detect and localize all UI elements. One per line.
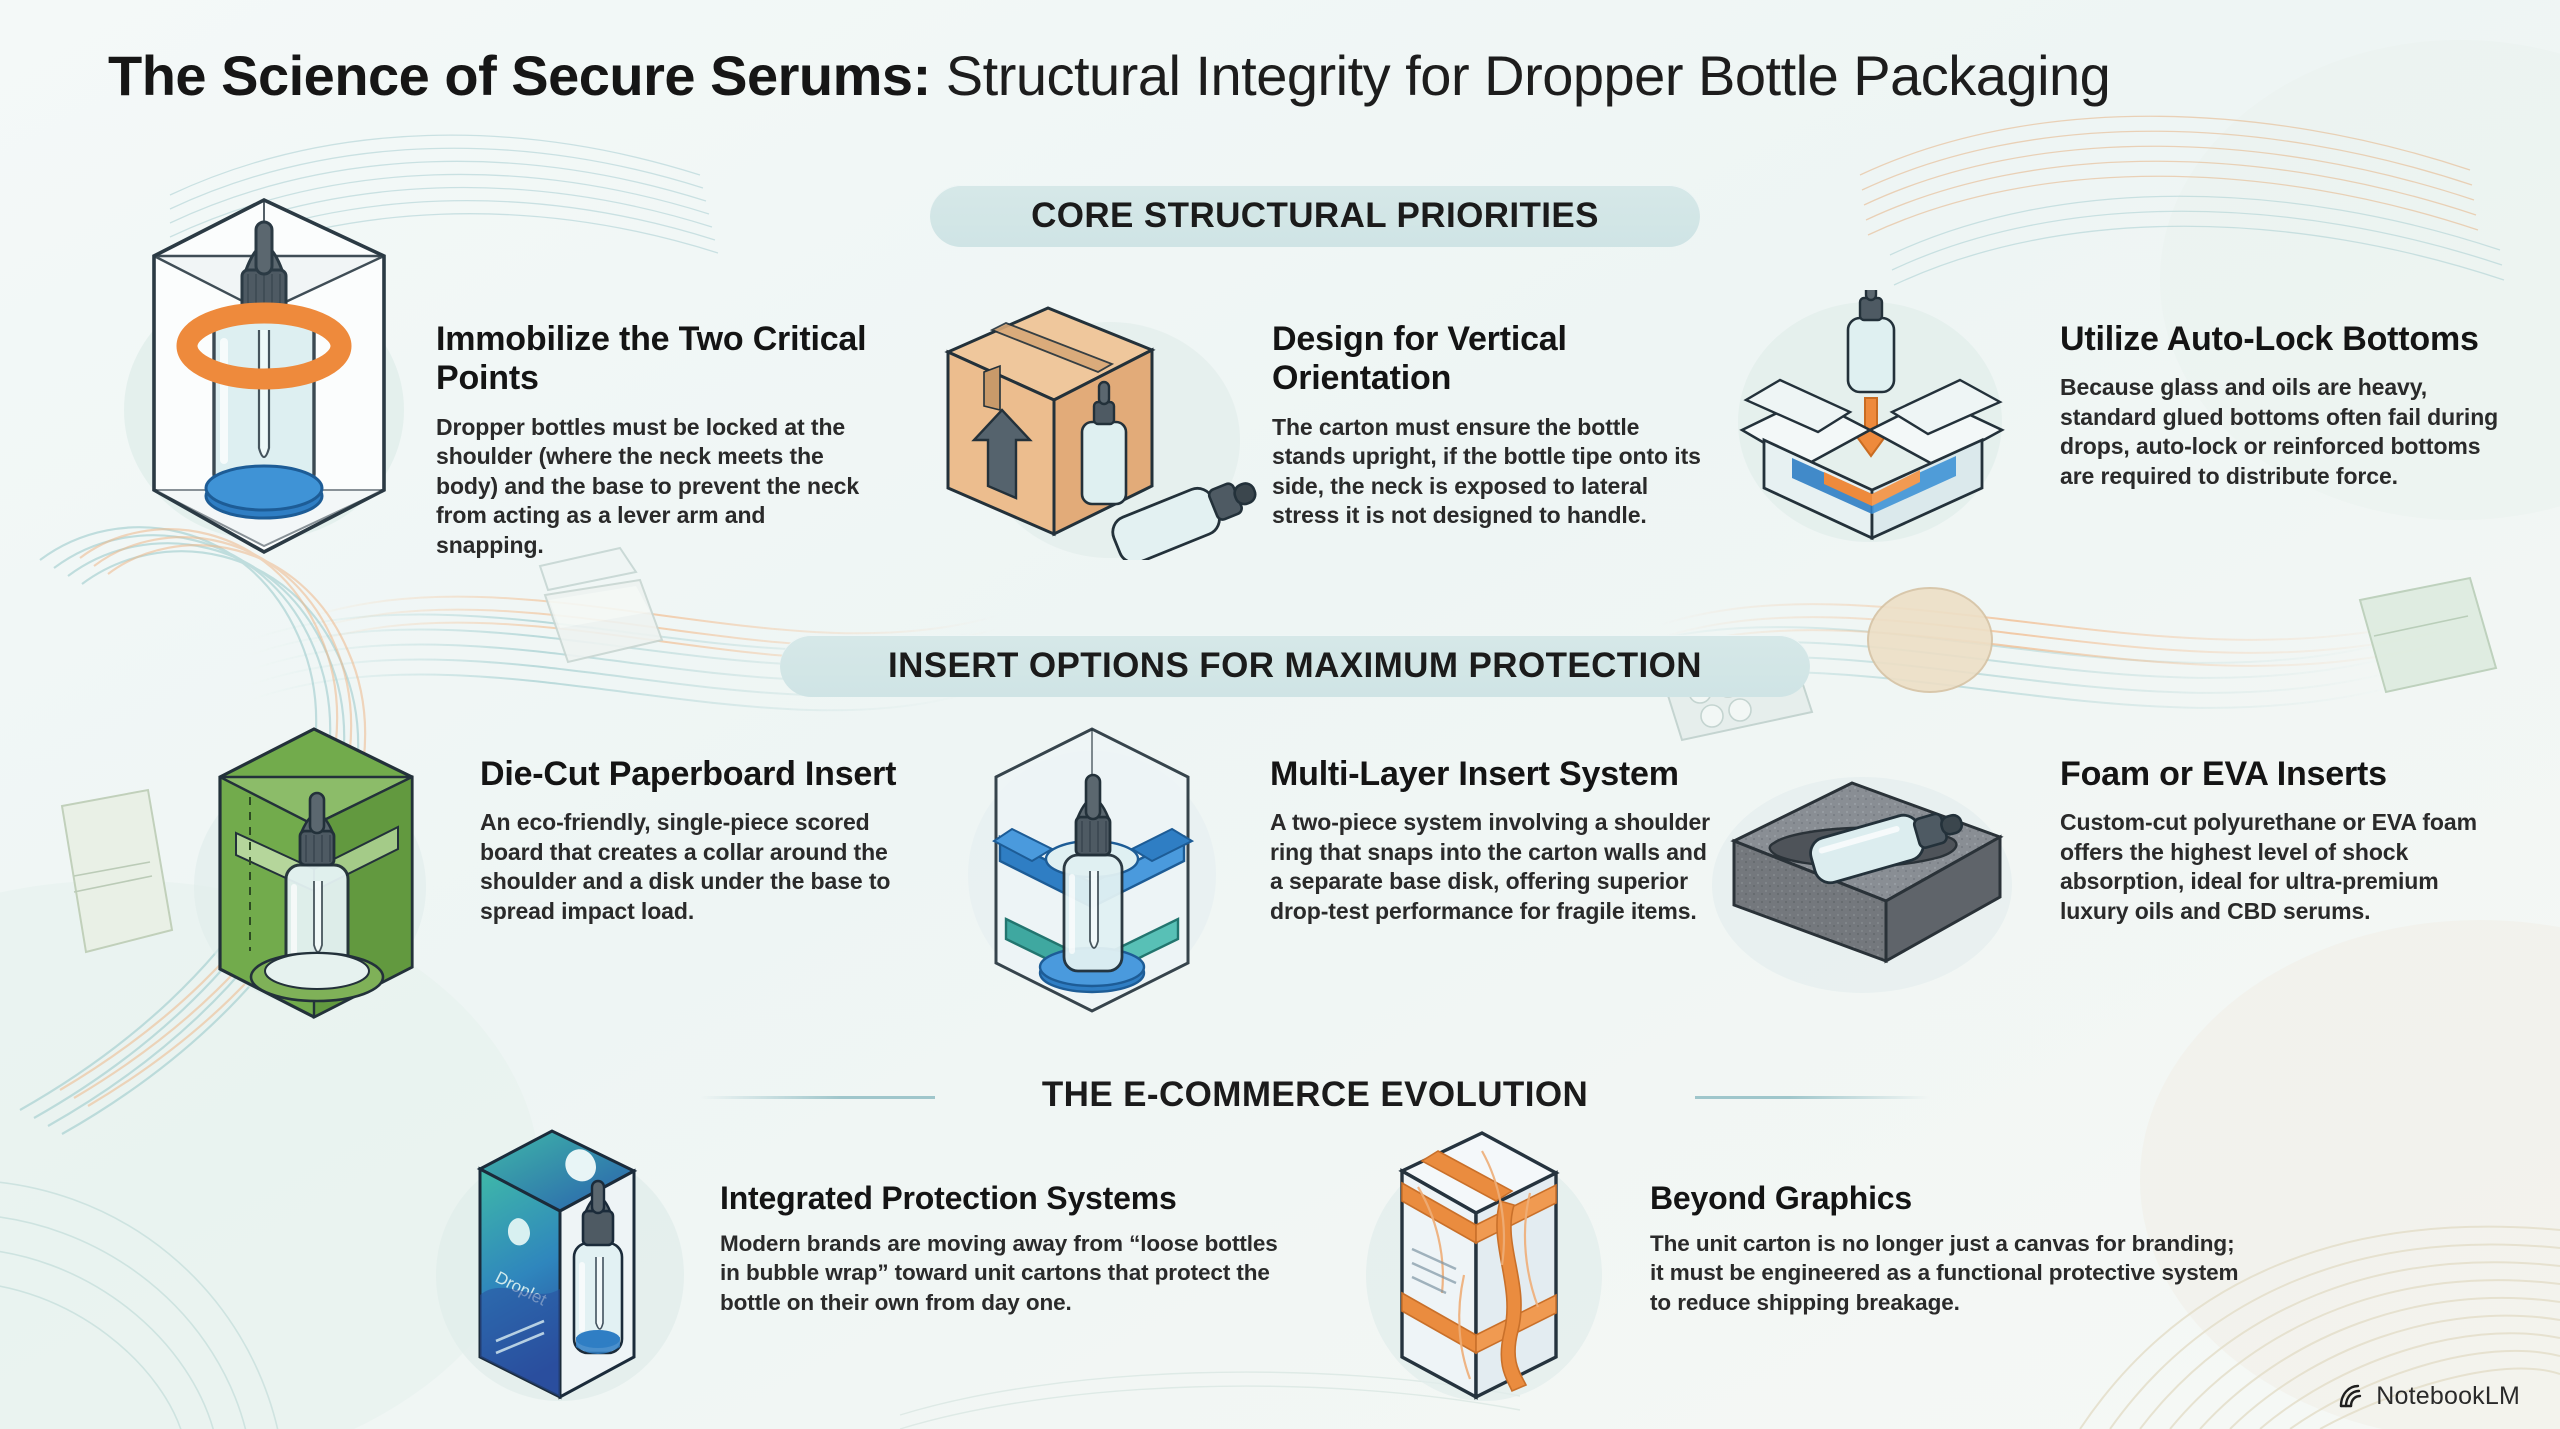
page-title: The Science of Secure Serums: Structural… (108, 40, 2508, 110)
card-immobilize-body: Dropper bottles must be locked at the sh… (436, 413, 876, 560)
section-header-core-label: CORE STRUCTURAL PRIORITIES (1031, 196, 1599, 236)
card-integrated-heading: Integrated Protection Systems (720, 1180, 1300, 1217)
page-title-subject: Structural Integrity for Dropper Bottle … (931, 43, 2111, 108)
section-rule-left (700, 1096, 935, 1099)
card-multi-layer-insert: Multi-Layer Insert System A two-piece sy… (960, 745, 1720, 1025)
illustration-open-carton-auto-lock-bottom (1720, 290, 2040, 550)
card-vertical-orientation: Design for Vertical Orientation The cart… (930, 300, 1710, 560)
notebooklm-logo-icon (2336, 1381, 2366, 1411)
card-beyond-graphics: Beyond Graphics The unit carton is no lo… (1360, 1180, 2240, 1415)
card-foam-body: Custom-cut polyurethane or EVA foam offe… (2060, 808, 2500, 926)
page-title-emphasis: The Science of Secure Serums: (108, 43, 931, 108)
card-multilayer-body: A two-piece system involving a shoulder … (1270, 808, 1720, 926)
illustration-foam-eva-insert-case (1700, 745, 2030, 1005)
card-vertical-body: The carton must ensure the bottle stands… (1272, 413, 1710, 531)
illustration-multi-layer-insert-system (960, 705, 1230, 1025)
section-header-ecommerce: THE E-COMMERCE EVOLUTION (930, 1065, 1700, 1125)
card-beyond-body: The unit carton is no longer just a canv… (1650, 1229, 2240, 1317)
section-rule-right (1695, 1096, 1930, 1099)
card-beyond-heading: Beyond Graphics (1650, 1180, 2240, 1217)
section-header-ecommerce-label: THE E-COMMERCE EVOLUTION (1042, 1075, 1588, 1115)
card-multilayer-heading: Multi-Layer Insert System (1270, 755, 1720, 794)
illustration-strapped-unit-carton (1360, 1125, 1610, 1415)
card-vertical-heading: Design for Vertical Orientation (1272, 320, 1710, 399)
notebooklm-watermark-label: NotebookLM (2376, 1382, 2520, 1411)
section-header-insert: INSERT OPTIONS FOR MAXIMUM PROTECTION (780, 635, 1810, 697)
card-die-cut-paperboard: Die-Cut Paperboard Insert An eco-friendl… (190, 745, 910, 1035)
section-header-insert-label: INSERT OPTIONS FOR MAXIMUM PROTECTION (888, 646, 1702, 686)
card-diecut-heading: Die-Cut Paperboard Insert (480, 755, 910, 794)
card-foam-eva-inserts: Foam or EVA Inserts Custom-cut polyureth… (1700, 745, 2500, 1005)
illustration-dropper-bottle-in-clear-carton (96, 160, 436, 580)
card-auto-lock-bottoms: Utilize Auto-Lock Bottoms Because glass … (1720, 300, 2520, 550)
section-header-core: CORE STRUCTURAL PRIORITIES (930, 185, 1700, 247)
card-immobilize-heading: Immobilize the Two Critical Points (436, 320, 876, 399)
card-autolock-body: Because glass and oils are heavy, standa… (2060, 373, 2520, 491)
notebooklm-watermark: NotebookLM (2336, 1381, 2520, 1411)
card-diecut-body: An eco-friendly, single-piece scored boa… (480, 808, 910, 926)
illustration-green-die-cut-paperboard-insert (190, 705, 440, 1035)
card-integrated-body: Modern brands are moving away from “loos… (720, 1229, 1300, 1317)
card-foam-heading: Foam or EVA Inserts (2060, 755, 2500, 794)
card-autolock-heading: Utilize Auto-Lock Bottoms (2060, 320, 2520, 359)
illustration-shipping-box-with-bottles (930, 290, 1260, 560)
illustration-branded-unit-carton: Droplet (420, 1125, 710, 1415)
card-integrated-protection: Droplet Integrated Protection (420, 1180, 1300, 1415)
card-immobilize: Immobilize the Two Critical Points Dropp… (96, 300, 876, 580)
